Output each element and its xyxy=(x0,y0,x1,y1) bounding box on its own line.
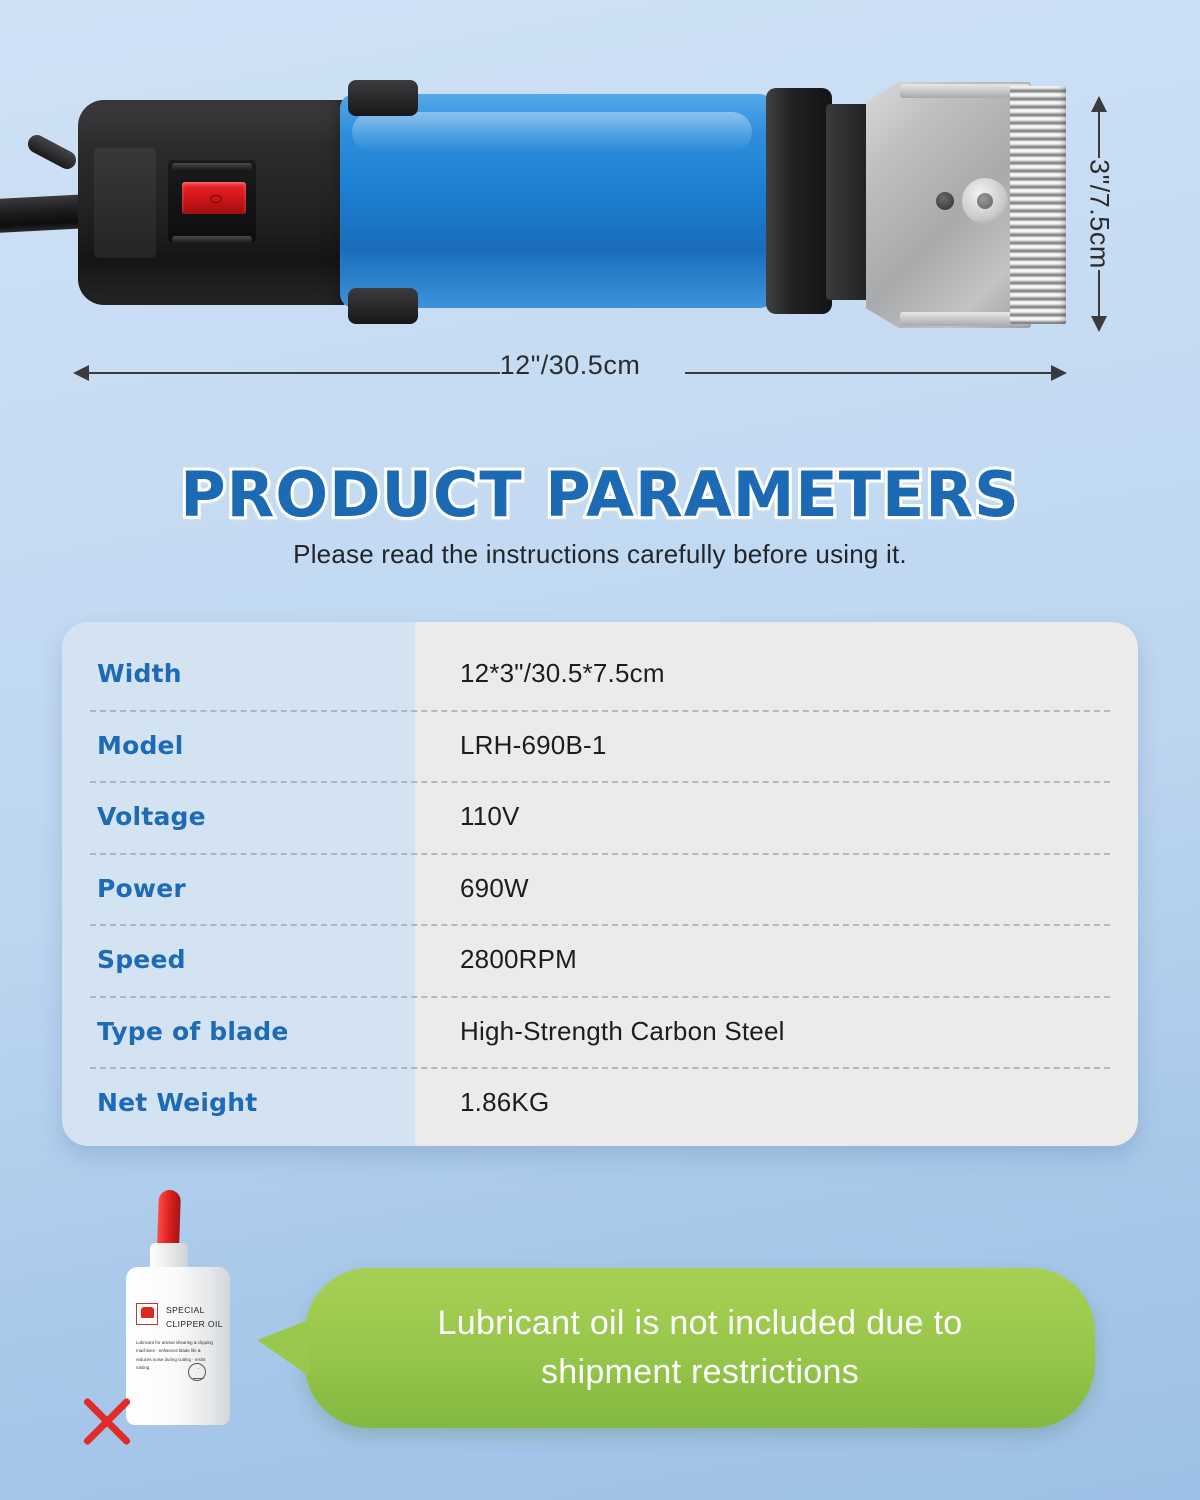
housing-plate xyxy=(94,148,156,258)
table-row: Type of blade High-Strength Carbon Steel xyxy=(62,996,1138,1068)
page-subtitle: Please read the instructions carefully b… xyxy=(0,539,1200,570)
recycle-icon xyxy=(188,1363,206,1381)
spec-label: Model xyxy=(62,731,415,760)
spec-label: Voltage xyxy=(62,802,415,831)
spec-label: Width xyxy=(62,659,415,688)
barrel-highlight xyxy=(352,112,752,152)
spec-value: LRH-690B-1 xyxy=(415,730,1138,761)
barrel-collar-top xyxy=(348,80,418,116)
table-row: Power 690W xyxy=(62,853,1138,925)
cable-tip-icon xyxy=(25,132,79,172)
spec-label: Type of blade xyxy=(62,1017,415,1046)
spec-label: Power xyxy=(62,874,415,903)
length-dimension-label: 12"/30.5cm xyxy=(75,350,1065,381)
notice-line-2: shipment restrictions xyxy=(541,1353,859,1391)
spec-value: 12*3"/30.5*7.5cm xyxy=(415,658,1138,689)
bottle-title-line2: CLIPPER OIL xyxy=(166,1319,223,1329)
table-row: Width 12*3"/30.5*7.5cm xyxy=(62,638,1138,710)
spec-value: 2800RPM xyxy=(415,944,1138,975)
front-collar xyxy=(766,88,832,314)
spec-label: Speed xyxy=(62,945,415,974)
switch-slot-top xyxy=(172,163,252,170)
arrow-right-icon xyxy=(1051,365,1067,381)
dim-line-top xyxy=(1098,108,1100,158)
clipper-oil-bottle: SPECIAL CLIPPER OIL Lubricant for animal… xyxy=(120,1195,240,1427)
blade-hole xyxy=(936,192,954,210)
spec-value: 110V xyxy=(415,801,1138,832)
length-dimension: 12"/30.5cm xyxy=(75,372,1065,374)
page-title: PRODUCT PARAMETERS xyxy=(0,462,1200,527)
barrel-collar-bottom xyxy=(348,288,418,324)
table-row: Speed 2800RPM xyxy=(62,924,1138,996)
table-row: Voltage 110V xyxy=(62,781,1138,853)
height-dimension-label: 3"/7.5cm xyxy=(1084,159,1115,269)
blade-screw-icon xyxy=(962,178,1008,224)
spec-label: Net Weight xyxy=(62,1088,415,1117)
bottle-body: SPECIAL CLIPPER OIL Lubricant for animal… xyxy=(126,1267,230,1425)
heading-block: PRODUCT PARAMETERS Please read the instr… xyxy=(0,462,1200,570)
spec-value: High-Strength Carbon Steel xyxy=(415,1016,1138,1047)
notice-bubble: Lubricant oil is not included due to shi… xyxy=(305,1268,1095,1428)
switch-slot-bottom xyxy=(172,236,252,243)
product-photo xyxy=(0,0,1200,345)
dim-line-right xyxy=(685,372,1055,374)
table-row: Net Weight 1.86KG xyxy=(62,1067,1138,1139)
arrow-down-icon xyxy=(1091,316,1107,332)
red-x-icon xyxy=(76,1390,138,1452)
power-switch-icon xyxy=(182,182,246,214)
blade-teeth xyxy=(1010,86,1066,324)
bottle-title-line1: SPECIAL xyxy=(166,1305,205,1315)
bottle-nozzle-icon xyxy=(157,1190,181,1249)
spec-rows: Width 12*3"/30.5*7.5cm Model LRH-690B-1 … xyxy=(62,622,1138,1146)
dim-line-bottom xyxy=(1098,270,1100,320)
bubble-tail-icon xyxy=(257,1320,309,1376)
height-dimension: 3"/7.5cm xyxy=(1098,98,1100,330)
rooster-logo-icon xyxy=(136,1303,158,1325)
table-row: Model LRH-690B-1 xyxy=(62,710,1138,782)
notice-text: Lubricant oil is not included due to shi… xyxy=(398,1299,1003,1398)
notice-line-1: Lubricant oil is not included due to xyxy=(438,1304,963,1342)
spec-value: 1.86KG xyxy=(415,1087,1138,1118)
spec-table-card: Width 12*3"/30.5*7.5cm Model LRH-690B-1 … xyxy=(62,622,1138,1146)
spec-value: 690W xyxy=(415,873,1138,904)
